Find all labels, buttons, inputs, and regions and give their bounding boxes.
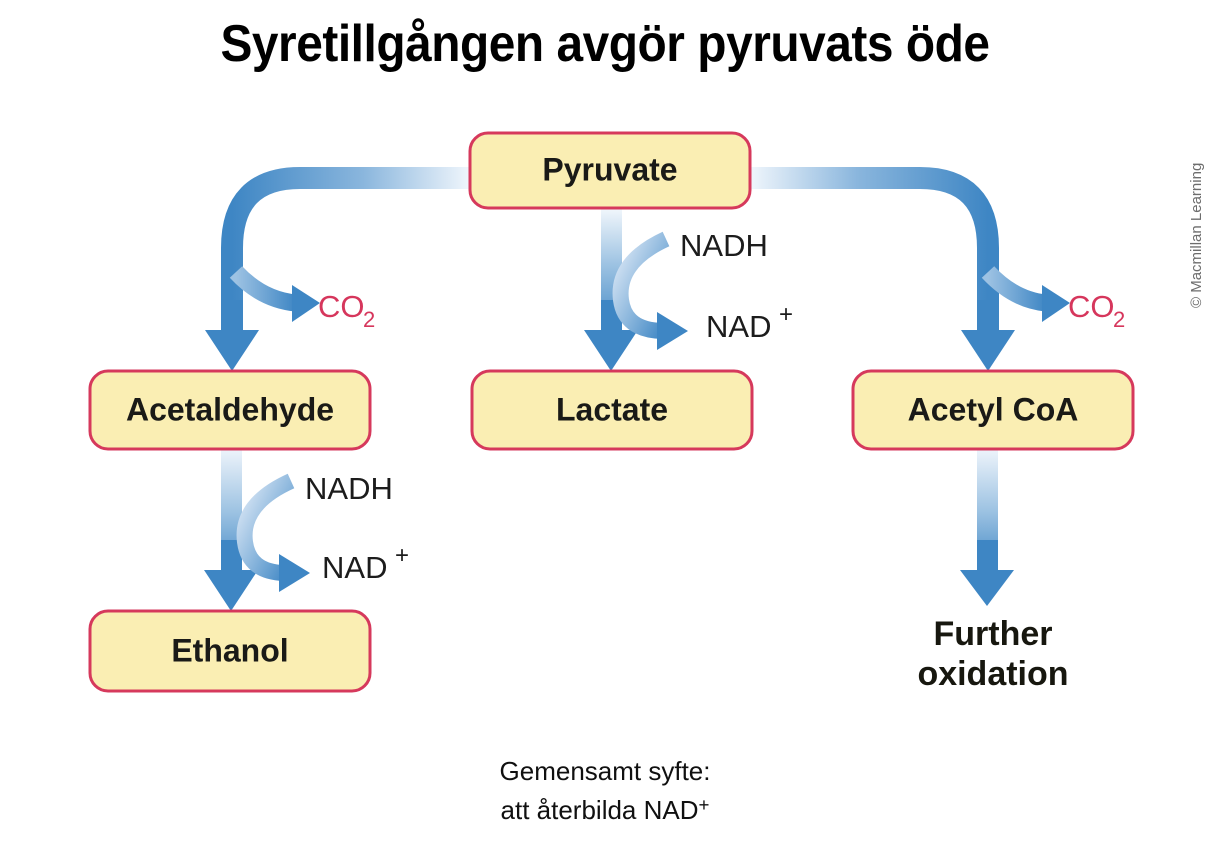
label-nadplus-middle: NAD + (706, 301, 793, 344)
copyright-notice: © Macmillan Learning (1188, 128, 1205, 308)
co2-left-text: CO (318, 289, 365, 324)
node-acetyl-coa[interactable]: Acetyl CoA (853, 371, 1133, 449)
edge-co2-left (236, 272, 320, 322)
label-nadh-lower: NADH (305, 471, 393, 506)
caption: Gemensamt syfte: att återbilda NAD+ (0, 755, 1210, 827)
label-nadh-middle: NADH (680, 228, 768, 263)
further-oxidation-line1: Further (934, 615, 1053, 653)
nadplus-middle-superscript: + (779, 301, 793, 328)
co2-right-subscript: 2 (1113, 307, 1125, 332)
co2-right-text: CO (1068, 289, 1115, 324)
caption-line-1: Gemensamt syfte: (0, 755, 1210, 788)
node-ethanol[interactable]: Ethanol (90, 611, 370, 691)
node-label-pyruvate: Pyruvate (542, 151, 677, 187)
node-further-oxidation: Further oxidation (917, 615, 1068, 693)
edge-acetylcoa-to-further-oxidation (960, 449, 1014, 606)
edge-pyruvate-to-lactate (584, 208, 638, 371)
node-label-acetyl-coa: Acetyl CoA (908, 391, 1079, 427)
nadplus-lower-text: NAD (322, 550, 387, 585)
node-lactate[interactable]: Lactate (472, 371, 752, 449)
co2-left-subscript: 2 (363, 307, 375, 332)
edge-pyruvate-to-acetylcoa (750, 178, 1015, 371)
label-nadplus-lower: NAD + (322, 542, 409, 585)
node-label-acetaldehyde: Acetaldehyde (126, 391, 334, 427)
nadplus-lower-superscript: + (395, 542, 409, 569)
label-co2-right: CO 2 (1068, 289, 1125, 332)
label-co2-left: CO 2 (318, 289, 375, 332)
edge-co2-right (988, 272, 1070, 322)
node-label-lactate: Lactate (556, 391, 668, 427)
nadh-middle-text: NADH (680, 228, 768, 263)
node-pyruvate[interactable]: Pyruvate (470, 133, 750, 208)
further-oxidation-line2: oxidation (917, 655, 1068, 693)
nadh-lower-text: NADH (305, 471, 393, 506)
node-acetaldehyde[interactable]: Acetaldehyde (90, 371, 370, 449)
caption-line-2: att återbilda NAD+ (0, 788, 1210, 827)
pathway-diagram: Pyruvate Acetaldehyde Lactate Acetyl CoA… (0, 0, 1210, 842)
nadplus-middle-text: NAD (706, 309, 771, 344)
node-label-ethanol: Ethanol (171, 632, 288, 668)
